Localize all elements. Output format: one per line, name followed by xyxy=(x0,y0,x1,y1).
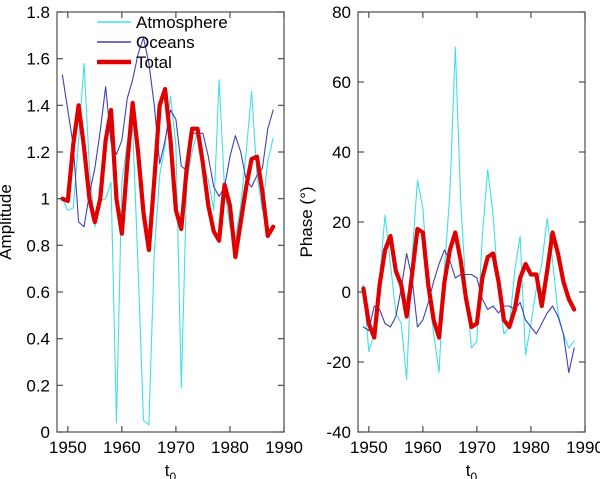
x-tick-label: 1990 xyxy=(566,438,600,457)
x-tick-label: 1980 xyxy=(512,438,550,457)
y-tick-label: -20 xyxy=(326,353,351,372)
legend-label-atmosphere: Atmosphere xyxy=(136,13,228,32)
phase-plot-svg: -40-2002040608019501960197019801990Phase… xyxy=(300,0,600,479)
y-tick-label: 0.6 xyxy=(26,283,50,302)
y-tick-label: 0.2 xyxy=(26,376,50,395)
y-tick-label: 20 xyxy=(332,213,351,232)
amplitude-panel: 00.20.40.60.811.21.41.61.819501960197019… xyxy=(0,0,300,479)
y-axis-title: Amplitude xyxy=(0,184,15,260)
amplitude-plot-svg: 00.20.40.60.811.21.41.61.819501960197019… xyxy=(0,0,300,479)
x-tick-label: 1990 xyxy=(265,438,303,457)
axis-frame xyxy=(57,12,284,432)
x-tick-label: 1960 xyxy=(103,438,141,457)
y-tick-label: 1.2 xyxy=(26,143,50,162)
y-tick-label: 0 xyxy=(342,283,351,302)
y-tick-label: 80 xyxy=(332,3,351,22)
x-tick-label: 1950 xyxy=(49,438,87,457)
legend-label-oceans: Oceans xyxy=(136,33,195,52)
x-tick-label: 1970 xyxy=(157,438,195,457)
y-tick-label: 1.4 xyxy=(26,96,50,115)
y-tick-label: 1.6 xyxy=(26,50,50,69)
x-axis-title: t0 xyxy=(165,461,177,479)
x-tick-label: 1970 xyxy=(458,438,496,457)
axis-frame xyxy=(358,12,585,432)
x-tick-label: 1950 xyxy=(350,438,388,457)
y-tick-label: 1.8 xyxy=(26,3,50,22)
y-tick-label: 1 xyxy=(41,190,50,209)
figure-container: 00.20.40.60.811.21.41.61.819501960197019… xyxy=(0,0,600,479)
y-tick-label: 40 xyxy=(332,143,351,162)
series-line-atmosphere xyxy=(363,47,574,380)
y-tick-label: 60 xyxy=(332,73,351,92)
legend-label-total: Total xyxy=(136,53,172,72)
x-tick-label: 1980 xyxy=(211,438,249,457)
x-axis-title: t0 xyxy=(466,461,478,479)
x-tick-label: 1960 xyxy=(404,438,442,457)
phase-panel: -40-2002040608019501960197019801990Phase… xyxy=(300,0,600,479)
y-tick-label: 0.4 xyxy=(26,330,50,349)
y-axis-title: Phase (°) xyxy=(297,186,316,257)
y-tick-label: 0.8 xyxy=(26,236,50,255)
y-tick-label: -40 xyxy=(326,423,351,442)
